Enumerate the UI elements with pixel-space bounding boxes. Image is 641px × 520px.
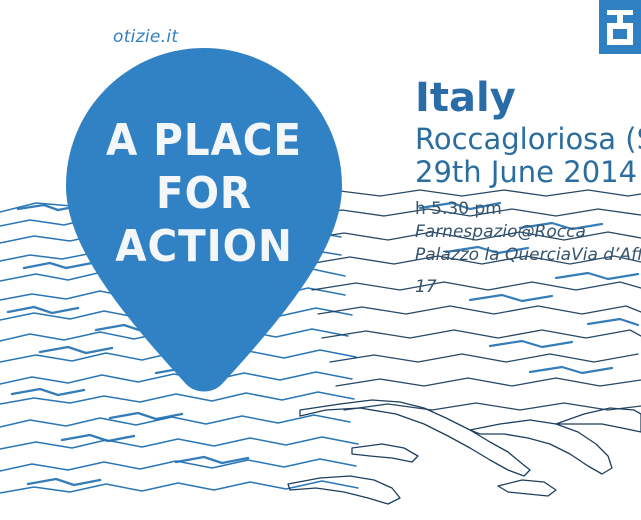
event-info-block: Italy Roccagloriosa (SA) 29th June 2014 … <box>415 78 641 297</box>
event-time: h 5.30 pm <box>415 199 641 219</box>
event-street-number: 17 <box>415 277 641 297</box>
poster-canvas: otizie.it A PLACE FOR ACTION Italy Rocca… <box>0 0 641 520</box>
brand-logo-icon <box>599 0 641 54</box>
event-country: Italy <box>415 78 641 119</box>
event-place: Roccagloriosa (SA) <box>415 123 641 156</box>
event-date: 29th June 2014 <box>415 156 641 189</box>
brand-logo-badge <box>599 0 641 54</box>
map-pin-icon <box>66 48 342 393</box>
event-address: Palazzo la QuerciaVia d’Afflitto <box>415 245 641 265</box>
site-watermark: otizie.it <box>113 27 178 47</box>
event-venue: Farnespazio@Rocca <box>415 222 641 242</box>
